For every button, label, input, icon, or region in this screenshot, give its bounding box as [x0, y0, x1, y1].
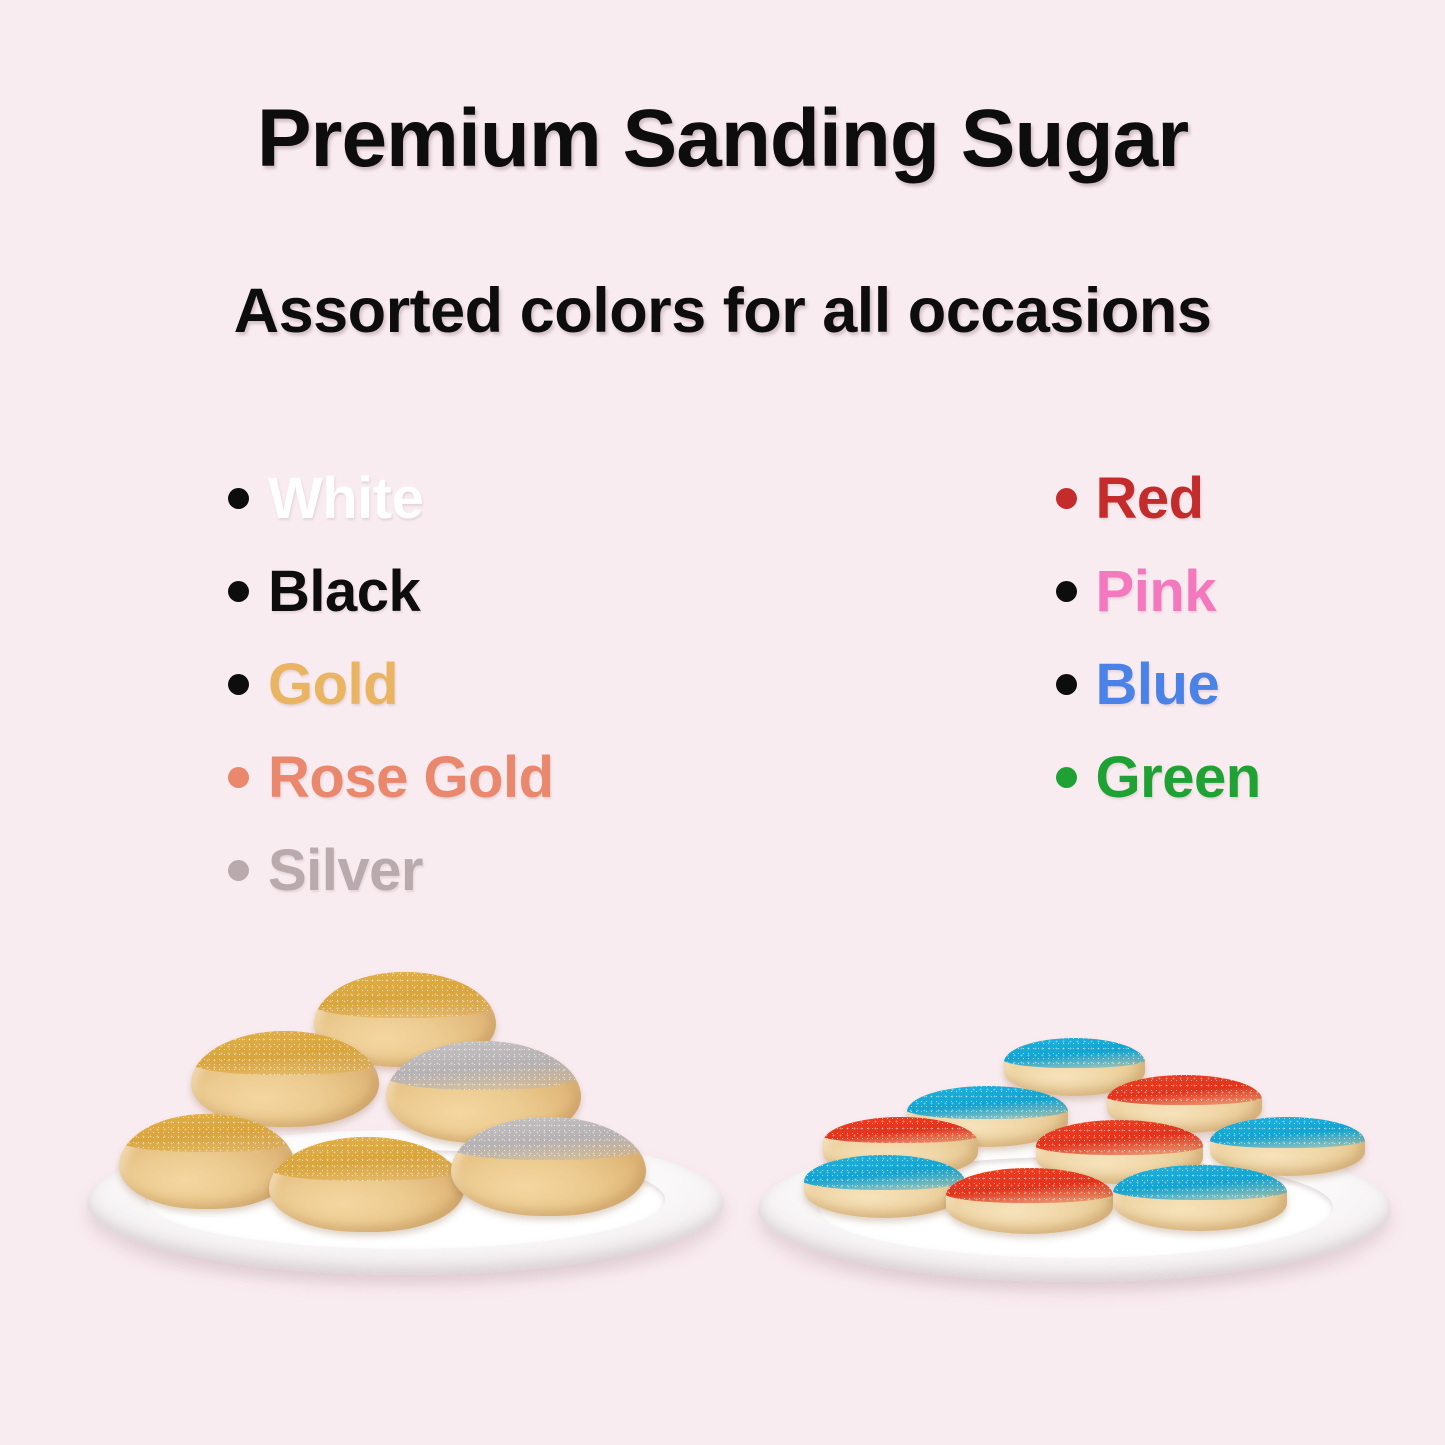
bullet-icon [1056, 581, 1077, 602]
page-title: Premium Sanding Sugar [0, 96, 1445, 182]
list-item: Pink [1056, 545, 1261, 638]
bullet-icon [1056, 767, 1077, 788]
color-label-blue: Blue [1096, 656, 1220, 714]
color-label-white: White [268, 470, 423, 528]
bullet-icon [228, 860, 249, 881]
color-label-green: Green [1096, 749, 1261, 807]
list-item: Rose Gold [228, 731, 554, 824]
list-item: Silver [228, 824, 554, 917]
color-label-silver: Silver [268, 842, 423, 900]
color-label-red: Red [1096, 470, 1204, 528]
list-item: Gold [228, 638, 554, 731]
plate-of-blue-and-red-sugar-cookies [752, 1030, 1397, 1295]
bullet-icon [1056, 674, 1077, 695]
list-item: Red [1056, 452, 1261, 545]
color-list: White Black Gold Rose Gold Silver Red Pi… [0, 452, 1445, 917]
header-block: Premium Sanding Sugar Assorted colors fo… [0, 0, 1445, 344]
list-item: Blue [1056, 638, 1261, 731]
page-subtitle: Assorted colors for all occasions [0, 278, 1445, 344]
plate-of-gold-and-silver-sugar-cookies [80, 965, 730, 1295]
list-item: Green [1056, 731, 1261, 824]
color-label-gold: Gold [268, 656, 398, 714]
color-label-black: Black [268, 563, 420, 621]
color-list-left-column: White Black Gold Rose Gold Silver [228, 452, 554, 917]
bullet-icon [228, 488, 249, 509]
bullet-icon [228, 767, 249, 788]
plate [758, 1136, 1390, 1282]
bullet-icon [228, 674, 249, 695]
color-label-pink: Pink [1096, 563, 1217, 621]
color-label-rose-gold: Rose Gold [268, 749, 554, 807]
color-list-right-column: Red Pink Blue Green [1056, 452, 1261, 917]
list-item: Black [228, 545, 554, 638]
plate [87, 1130, 724, 1275]
bullet-icon [1056, 488, 1077, 509]
bullet-icon [228, 581, 249, 602]
list-item: White [228, 452, 554, 545]
